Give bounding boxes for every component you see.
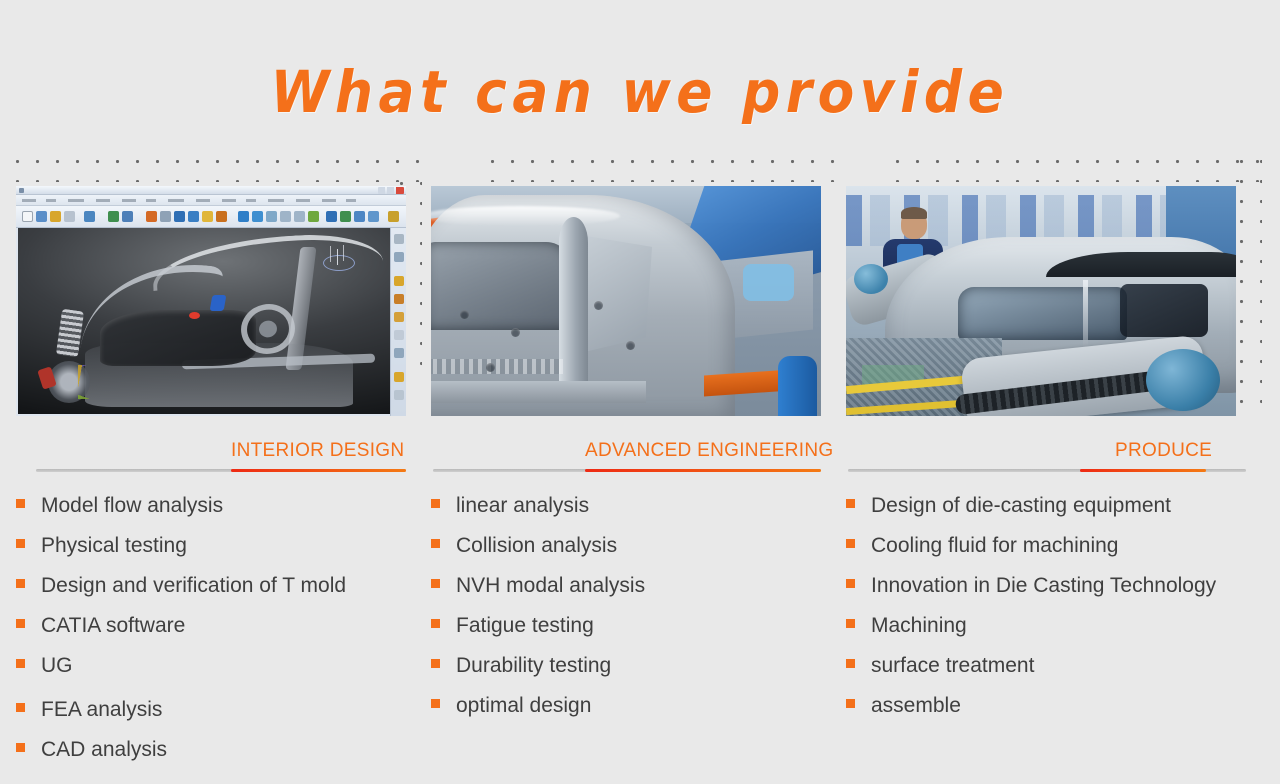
toolbar-light-icon[interactable] [202, 211, 213, 222]
list-item[interactable]: CATIA software [16, 606, 416, 646]
toolbar-render-icon[interactable] [188, 211, 199, 222]
image-advanced-engineering-body-in-white [431, 186, 821, 416]
caption-interior-design: INTERIOR DESIGN [231, 440, 404, 462]
toolbar-new-icon[interactable] [22, 211, 33, 222]
bullet-square-icon [16, 743, 25, 752]
toolbar-copy-icon[interactable] [64, 211, 75, 222]
list-item[interactable]: Physical testing [16, 526, 416, 566]
toolbar-open-icon[interactable] [36, 211, 47, 222]
caption-rule-accent [1080, 469, 1206, 472]
cad-toolbar[interactable] [16, 206, 406, 228]
list-item-label: Fatigue testing [456, 606, 594, 646]
cad-right-toolbar[interactable] [390, 228, 406, 416]
list-item[interactable]: Durability testing [431, 646, 831, 686]
dot-grid-decoration-right-top [896, 160, 1260, 182]
sidebar-tool-8-icon[interactable] [394, 372, 404, 382]
list-item-label: Innovation in Die Casting Technology [871, 566, 1216, 606]
toolbar-pan-icon[interactable] [252, 211, 263, 222]
body-hole [486, 363, 495, 372]
toolbar-view-top-icon[interactable] [340, 211, 351, 222]
caption-row-produce: PRODUCE [848, 430, 1248, 472]
body-in-white-scene [431, 186, 821, 416]
bullet-square-icon [16, 499, 25, 508]
door-aperture [431, 242, 572, 330]
list-item[interactable]: Collision analysis [431, 526, 831, 566]
bullet-square-icon [846, 499, 855, 508]
cad-3d-viewport[interactable] [18, 228, 390, 414]
list-item-label: Collision analysis [456, 526, 617, 566]
dot-grid-decoration-right-side [1240, 160, 1262, 420]
toolbar-cut-icon[interactable] [50, 211, 61, 222]
robot-joint-left [854, 264, 888, 294]
sidebar-tool-5-icon[interactable] [394, 312, 404, 322]
cad-application-window [16, 186, 406, 416]
list-item[interactable]: linear analysis [431, 486, 831, 526]
caption-advanced-engineering: ADVANCED ENGINEERING [585, 440, 833, 462]
sidebar-tool-4-icon[interactable] [394, 294, 404, 304]
bullet-square-icon [431, 579, 440, 588]
list-item[interactable]: Cooling fluid for machining [846, 526, 1266, 566]
list-item-label: Model flow analysis [41, 486, 223, 526]
list-item-label: surface treatment [871, 646, 1034, 686]
car-roof [1046, 252, 1236, 277]
list-item[interactable]: Design of die-casting equipment [846, 486, 1266, 526]
list-item-label: Cooling fluid for machining [871, 526, 1118, 566]
dot-grid-decoration-middle [491, 160, 835, 182]
list-item-label: linear analysis [456, 486, 589, 526]
page-title: What can we provide [51, 58, 1229, 126]
toolbar-section-icon[interactable] [160, 211, 171, 222]
list-item-label: CATIA software [41, 606, 185, 646]
caption-rule-accent [231, 469, 406, 472]
list-item-label: Design of die-casting equipment [871, 486, 1171, 526]
worker-hair [901, 207, 927, 219]
list-item[interactable]: Machining [846, 606, 1266, 646]
cad-dashboard [100, 310, 256, 366]
robot-joint-foreground [1146, 349, 1220, 411]
list-item-label: NVH modal analysis [456, 566, 645, 606]
list-item-label: Design and verification of T mold [41, 566, 346, 606]
toolbar-material-icon[interactable] [216, 211, 227, 222]
list-item[interactable]: Design and verification of T mold [16, 566, 416, 606]
bullet-square-icon [431, 659, 440, 668]
dot-grid-decoration-left [16, 160, 420, 182]
column-advanced-engineering: ADVANCED ENGINEERING [431, 186, 821, 416]
bullet-square-icon [431, 499, 440, 508]
toolbar-zoom-in-icon[interactable] [280, 211, 291, 222]
caption-row-advanced: ADVANCED ENGINEERING [433, 430, 821, 472]
sidebar-tool-9-icon[interactable] [394, 390, 404, 400]
toolbar-fit-icon[interactable] [308, 211, 319, 222]
image-produce-assembly-line [846, 186, 1236, 416]
list-item-label: Durability testing [456, 646, 611, 686]
toolbar-zoom-out-icon[interactable] [294, 211, 305, 222]
list-advanced-engineering: linear analysis Collision analysis NVH m… [431, 486, 831, 726]
toolbar-lock-icon[interactable] [388, 211, 399, 222]
list-item[interactable]: Model flow analysis [16, 486, 416, 526]
bullet-square-icon [16, 579, 25, 588]
list-item-label: UG [41, 646, 73, 686]
door-seam [1083, 280, 1088, 352]
blue-sheet-metal-patch [743, 264, 794, 301]
production-line-scene [846, 186, 1236, 416]
blue-air-hose [778, 356, 817, 416]
car-body-shell [431, 195, 735, 416]
caption-row-interior: INTERIOR DESIGN [20, 430, 406, 472]
list-item-label: CAD analysis [41, 730, 167, 770]
toolbar-rotate-icon[interactable] [266, 211, 277, 222]
toolbar-view-side-icon[interactable] [354, 211, 365, 222]
sidebar-tool-7-icon[interactable] [394, 348, 404, 358]
bullet-square-icon [16, 659, 25, 668]
cad-menu-bar[interactable] [16, 195, 406, 206]
toolbar-view-iso-icon[interactable] [368, 211, 379, 222]
floor-ribbing [431, 359, 563, 374]
list-item-label: FEA analysis [41, 690, 162, 730]
c-pillar [559, 217, 588, 398]
body-hole [511, 328, 520, 337]
caption-produce: PRODUCE [1115, 440, 1212, 462]
bullet-square-icon [846, 539, 855, 548]
bullet-square-icon [846, 699, 855, 708]
sidebar-tool-2-icon[interactable] [394, 252, 404, 262]
toolbar-redo-icon[interactable] [108, 211, 119, 222]
list-item[interactable]: assemble [846, 686, 1266, 726]
list-item[interactable]: Innovation in Die Casting Technology [846, 566, 1266, 606]
body-hole [626, 341, 635, 350]
sidebar-tool-1-icon[interactable] [394, 234, 404, 244]
bullet-square-icon [431, 699, 440, 708]
bullet-square-icon [846, 579, 855, 588]
list-item[interactable]: FEA analysis [16, 690, 416, 730]
cad-suspension-spring [56, 309, 84, 358]
list-item[interactable]: surface treatment [846, 646, 1266, 686]
rear-door-aperture [1120, 284, 1208, 337]
caption-rule-accent [585, 469, 821, 472]
bullet-square-icon [846, 659, 855, 668]
list-item-label: optimal design [456, 686, 591, 726]
list-item-label: Physical testing [41, 526, 187, 566]
rocker-sill [431, 381, 646, 403]
sidebar-tool-6-icon[interactable] [394, 330, 404, 340]
bullet-square-icon [846, 619, 855, 628]
cad-wiring-harness [78, 365, 118, 399]
image-interior-design-cad [16, 186, 406, 416]
cad-title-bar [16, 186, 406, 195]
cad-axis-compass-icon [323, 245, 357, 271]
front-door-aperture [958, 287, 1127, 340]
list-item[interactable]: optimal design [431, 686, 831, 726]
bullet-square-icon [431, 539, 440, 548]
cad-car-model [18, 228, 390, 414]
roof-highlight [431, 206, 620, 226]
list-interior-design: Model flow analysis Physical testing Des… [16, 486, 416, 770]
cad-blue-component [210, 295, 227, 311]
column-interior-design: INTERIOR DESIGN [16, 186, 406, 416]
list-item[interactable]: CAD analysis [16, 730, 416, 770]
list-item-label: assemble [871, 686, 961, 726]
list-produce: Design of die-casting equipment Cooling … [846, 486, 1266, 726]
bullet-square-icon [16, 619, 25, 628]
list-item[interactable]: Fatigue testing [431, 606, 831, 646]
list-item[interactable]: UG [16, 646, 416, 686]
list-item-label: Machining [871, 606, 967, 646]
cad-red-marker [189, 312, 200, 319]
window-controls[interactable] [378, 187, 404, 194]
bullet-square-icon [16, 703, 25, 712]
sidebar-tool-3-icon[interactable] [394, 276, 404, 286]
toolbar-print-icon[interactable] [122, 211, 133, 222]
toolbar-undo-icon[interactable] [84, 211, 95, 222]
toolbar-move-icon[interactable] [238, 211, 249, 222]
column-produce: PRODUCE [846, 186, 1236, 416]
toolbar-view-front-icon[interactable] [326, 211, 337, 222]
list-item[interactable]: NVH modal analysis [431, 566, 831, 606]
bullet-square-icon [16, 539, 25, 548]
toolbar-shade-icon[interactable] [174, 211, 185, 222]
bullet-square-icon [431, 619, 440, 628]
toolbar-measure-icon[interactable] [146, 211, 157, 222]
